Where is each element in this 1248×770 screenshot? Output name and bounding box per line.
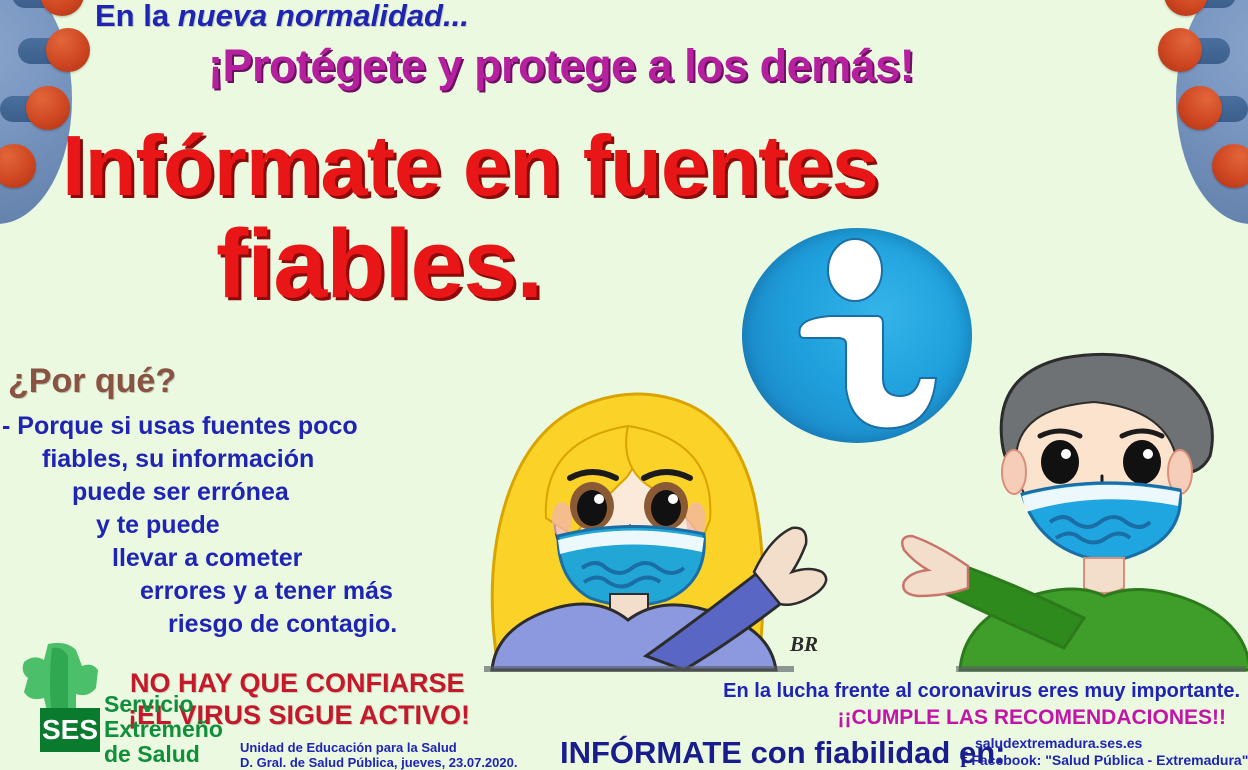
- virus-knob: [46, 28, 90, 72]
- reason-line: riesgo de contagio.: [0, 608, 470, 641]
- ses-name-line-3: de Salud: [104, 742, 223, 767]
- question-label: ¿Por qué?: [8, 362, 176, 401]
- reason-line: errores y a tener más: [0, 575, 470, 608]
- ses-logo: SES: [18, 640, 102, 752]
- ses-name-line-1: Servicio: [104, 692, 223, 717]
- informate-cta: INFÓRMATE con fiabilidad en:: [560, 735, 1005, 770]
- facebook-link[interactable]: f Facebook: "Salud Pública - Extremadura…: [960, 752, 1248, 768]
- facebook-icon: f: [960, 753, 967, 767]
- ses-name: Servicio Extremeño de Salud: [104, 692, 223, 767]
- credit-line-1: Unidad de Educación para la Salud: [240, 740, 517, 755]
- reason-line: puede ser errónea: [0, 476, 470, 509]
- artist-signature: BR: [790, 632, 818, 657]
- fight-message: En la lucha frente al coronavirus eres m…: [723, 680, 1240, 703]
- ses-acronym: SES: [40, 708, 100, 752]
- girl-illustration: [470, 368, 860, 673]
- kicker-prefix: En la: [95, 0, 178, 33]
- credit-line-2: D. Gral. de Salud Pública, jueves, 23.07…: [240, 755, 517, 770]
- poster-canvas: En la nueva normalidad... ¡Protégete y p…: [0, 0, 1248, 770]
- reason-line: - Porque si usas fuentes poco: [0, 410, 470, 443]
- virus-knob: [1178, 86, 1222, 130]
- virus-knob: [1212, 144, 1248, 188]
- reason-line: y te puede: [0, 509, 470, 542]
- reason-text-block: - Porque si usas fuentes poco fiables, s…: [0, 410, 470, 641]
- ses-name-line-2: Extremeño: [104, 717, 223, 742]
- facebook-label: Facebook: "Salud Pública - Extremadura": [971, 752, 1248, 768]
- title-line-1: Infórmate en fuentes: [62, 118, 878, 216]
- kicker-line: En la nueva normalidad...: [95, 0, 469, 34]
- comply-message: ¡¡CUMPLE LAS RECOMENDACIONES!!: [838, 706, 1227, 730]
- virus-knob: [1158, 28, 1202, 72]
- credit-block: Unidad de Educación para la Salud D. Gra…: [240, 740, 517, 770]
- kicker-emphasis: nueva normalidad...: [178, 0, 469, 33]
- subtitle: ¡Protégete y protege a los demás!: [208, 40, 914, 92]
- website-link[interactable]: saludextremadura.ses.es: [975, 735, 1142, 751]
- coronavirus-decoration-right: [1176, 0, 1248, 224]
- boy-illustration: [898, 330, 1248, 675]
- reason-line: llevar a cometer: [0, 542, 470, 575]
- title-line-2: fiables.: [216, 208, 542, 320]
- reason-line: fiables, su información: [0, 443, 470, 476]
